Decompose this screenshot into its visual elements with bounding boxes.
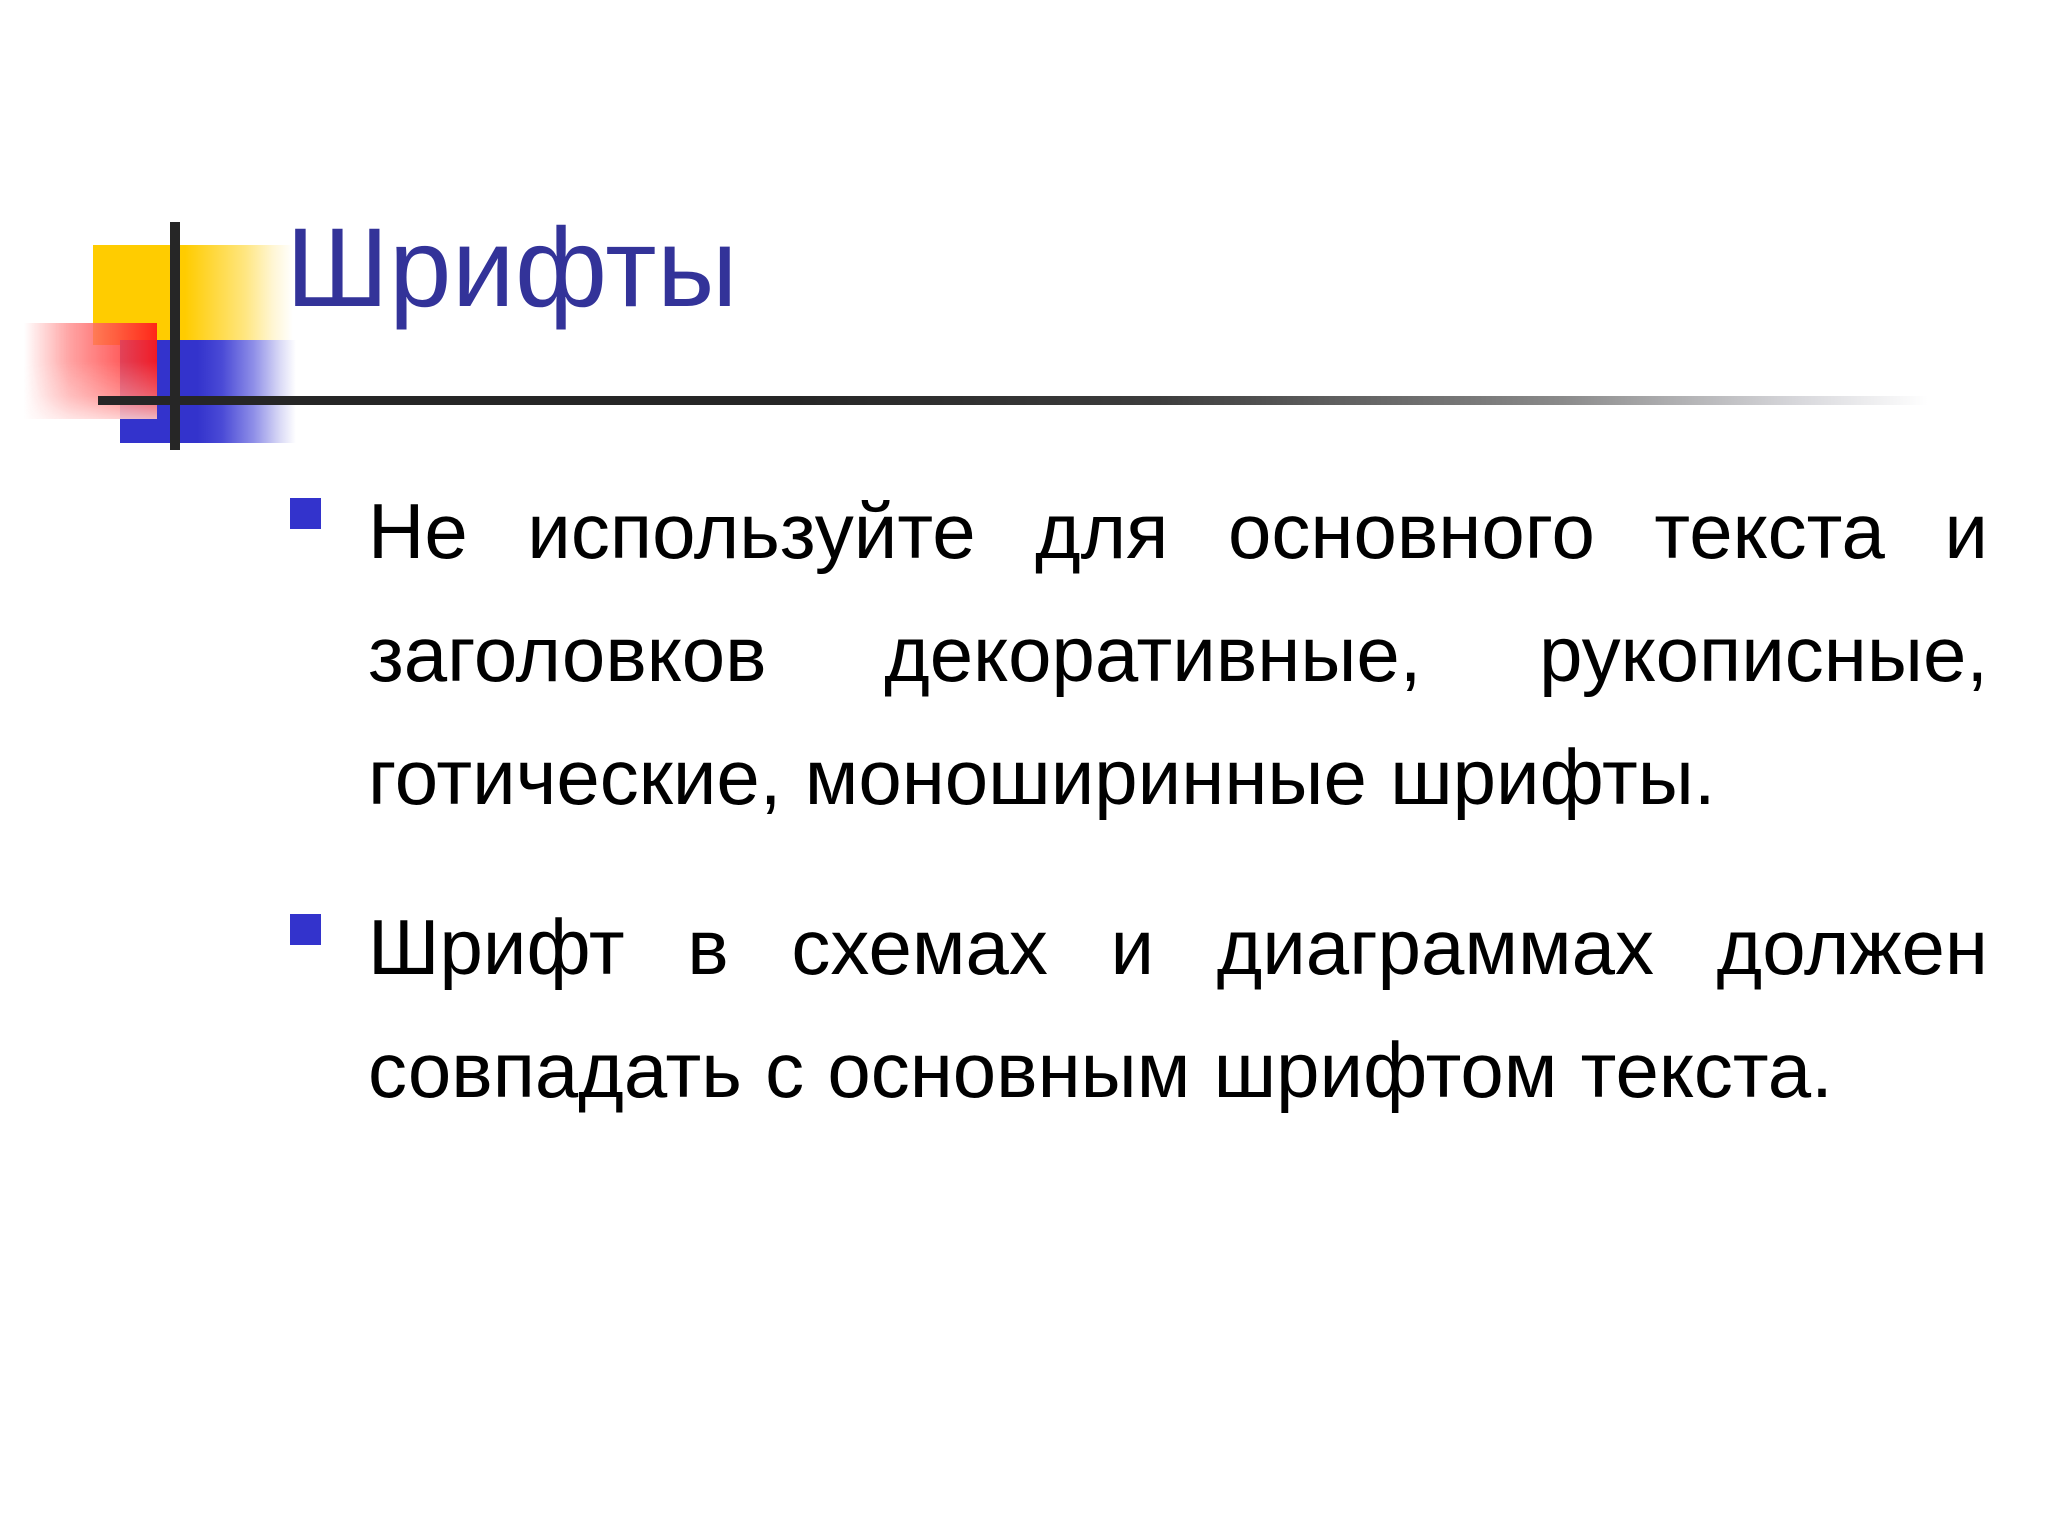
slide-body-content: Не используйте для основного текста и за… bbox=[288, 470, 1988, 1178]
slide-title: Шрифты bbox=[286, 208, 738, 329]
presentation-slide: Шрифты Не используйте для основного текс… bbox=[0, 0, 2048, 1536]
bullet-item-1: Не используйте для основного текста и за… bbox=[288, 470, 1988, 840]
bullet-item-1-text: Не используйте для основного текста и за… bbox=[368, 470, 1988, 840]
title-underline-rule bbox=[98, 396, 1928, 405]
bullet-item-2-text: Шрифт в схемах и диаграммах должен совпа… bbox=[368, 886, 1988, 1132]
bullet-item-2: Шрифт в схемах и диаграммах должен совпа… bbox=[288, 886, 1988, 1132]
square-bullet-icon bbox=[290, 498, 321, 529]
square-bullet-icon bbox=[290, 914, 321, 945]
vertical-bar-icon bbox=[170, 222, 180, 450]
yellow-square-icon bbox=[93, 245, 293, 345]
blue-square-icon bbox=[120, 340, 296, 443]
